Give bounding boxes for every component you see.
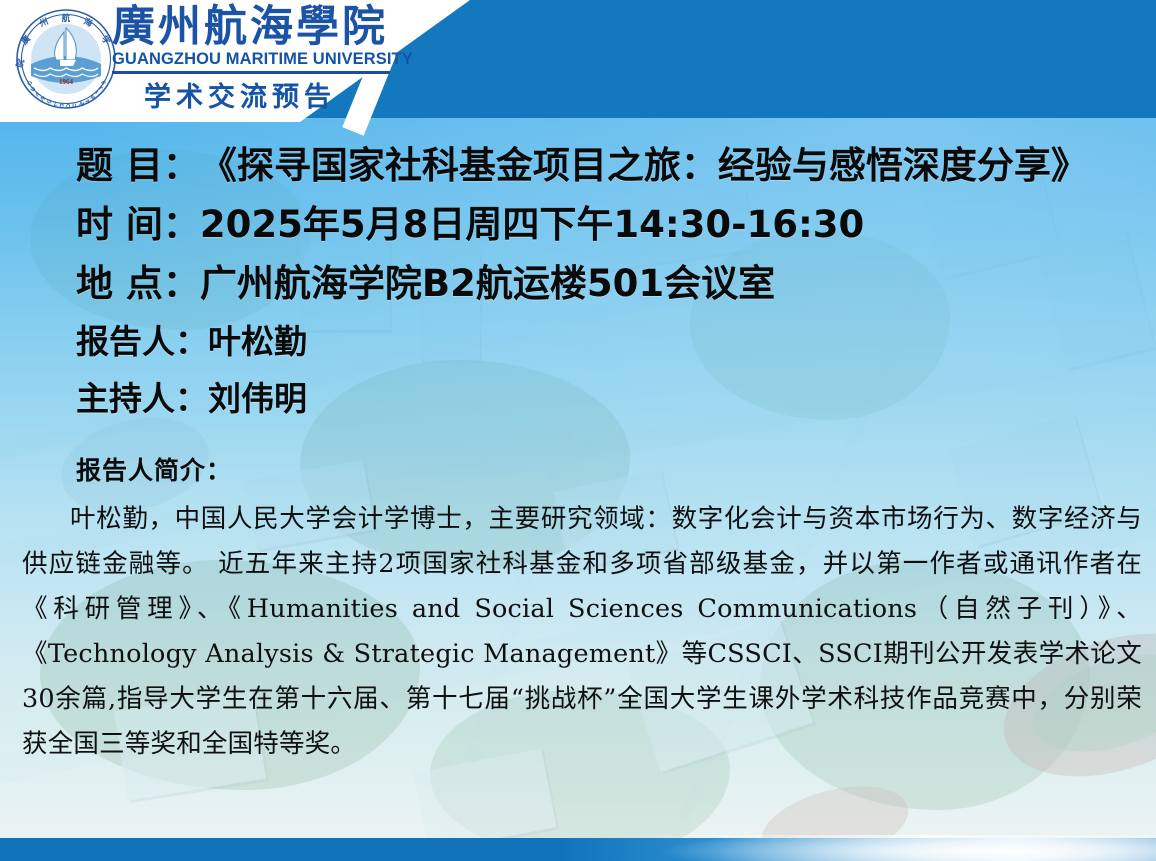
university-name-en: GUANGZHOU MARITIME UNIVERSITY — [110, 50, 410, 69]
time-value: 2025年5月8日周四下午14:30-16:30 — [200, 195, 864, 254]
topic-value: 《探寻国家社科基金项目之旅：经验与感悟深度分享》 — [200, 136, 1088, 195]
host-label: 主持人： — [76, 370, 208, 427]
brand-block: 廣州航海學院 GUANGZHOU MARITIME UNIVERSITY 学术交… — [110, 2, 410, 114]
svg-text:O: O — [66, 104, 71, 110]
announcement-poster: 1964 航 州 海 廣 学 院 G U A N G Z H O — [0, 0, 1156, 861]
poster-header: 1964 航 州 海 廣 学 院 G U A N G Z H O — [0, 0, 1156, 122]
speaker-label: 报告人： — [76, 313, 208, 370]
detail-row-host: 主持人： 刘伟明 — [0, 370, 1156, 427]
detail-row-speaker: 报告人： 叶松勤 — [0, 313, 1156, 370]
host-value: 刘伟明 — [208, 370, 307, 427]
svg-text:H: H — [60, 103, 65, 109]
svg-text:U: U — [72, 103, 77, 110]
speaker-value: 叶松勤 — [208, 313, 307, 370]
time-label: 时 间： — [76, 195, 200, 254]
svg-text:航: 航 — [62, 13, 71, 24]
svg-text:1964: 1964 — [59, 78, 74, 86]
university-name-cn: 廣州航海學院 — [110, 2, 410, 52]
bio-paragraph: 叶松勤，中国人民大学会计学博士，主要研究领域：数字化会计与资本市场行为、数字经济… — [0, 487, 1156, 767]
detail-row-location: 地 点： 广州航海学院B2航运楼501会议室 — [0, 254, 1156, 313]
topic-label: 题 目： — [76, 136, 200, 195]
footer-decoration-bar — [0, 838, 1156, 861]
header-subtitle: 学术交流预告 — [110, 75, 410, 114]
university-seal-sailboat-icon: 1964 航 州 海 廣 学 院 G U A N G Z H O — [14, 6, 118, 114]
detail-row-time: 时 间： 2025年5月8日周四下午14:30-16:30 — [0, 195, 1156, 254]
poster-content: 题 目： 《探寻国家社科基金项目之旅：经验与感悟深度分享》 时 间： 2025年… — [0, 122, 1156, 767]
brand-divider — [112, 71, 390, 74]
location-value: 广州航海学院B2航运楼501会议室 — [200, 254, 775, 313]
location-label: 地 点： — [76, 254, 200, 313]
announcement-details: 题 目： 《探寻国家社科基金项目之旅：经验与感悟深度分享》 时 间： 2025年… — [0, 122, 1156, 427]
detail-row-topic: 题 目： 《探寻国家社科基金项目之旅：经验与感悟深度分享》 — [0, 136, 1156, 195]
bio-heading: 报告人简介： — [0, 451, 1156, 487]
